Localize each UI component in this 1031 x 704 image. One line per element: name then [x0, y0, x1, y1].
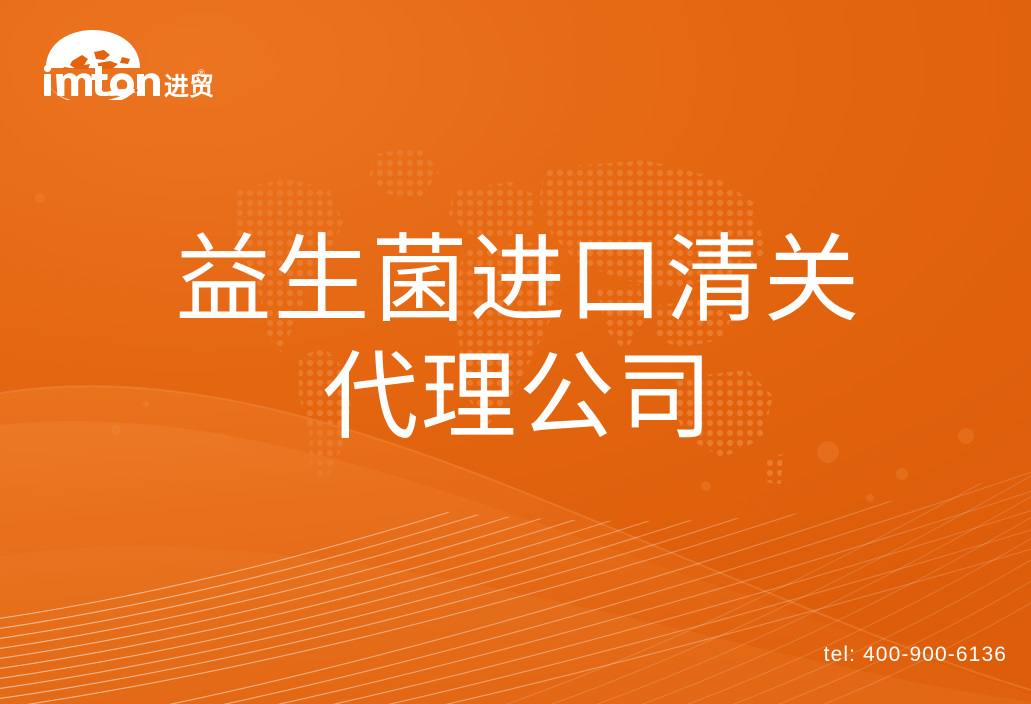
globe-arc-icon: [46, 30, 140, 69]
registered-trademark-icon: ®: [198, 68, 205, 78]
brand-logo[interactable]: 进贸通 ®: [38, 28, 213, 100]
logo-wordmark-chinese: 进贸通: [164, 72, 213, 100]
promo-banner: 进贸通 ® 益生菌进口清关 代理公司 tel: 400-900-6136: [0, 0, 1031, 704]
dotted-world-map: [225, 138, 785, 508]
contact-phone: tel: 400-900-6136: [824, 643, 1007, 667]
